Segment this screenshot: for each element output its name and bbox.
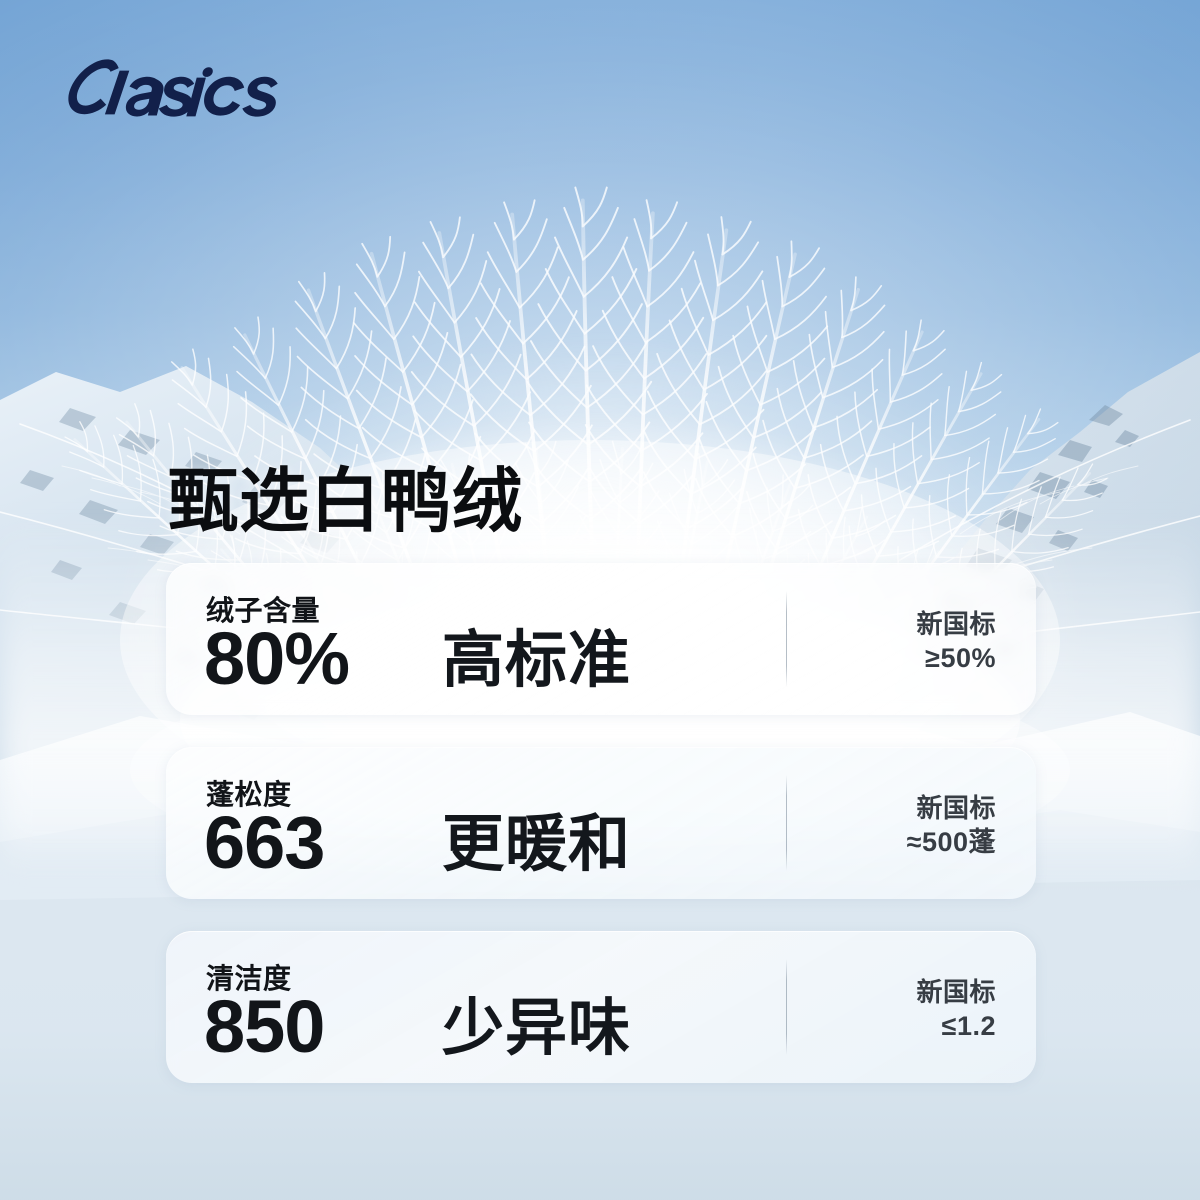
card-divider	[786, 775, 787, 871]
spec-benefit: 少异味	[442, 991, 631, 1067]
national-standard: 新国标 ≈500蓬	[907, 791, 996, 859]
card-divider	[786, 591, 787, 687]
spec-value: 663	[204, 801, 324, 885]
spec-value: 850	[204, 985, 324, 1069]
standard-title: 新国标	[916, 975, 996, 1009]
standard-value: ≤1.2	[916, 1009, 996, 1043]
standard-value: ≥50%	[916, 641, 996, 675]
page-title: 甄选白鸭绒	[168, 466, 523, 536]
spec-benefit: 高标准	[442, 623, 631, 699]
spec-value: 80%	[204, 617, 349, 701]
standard-title: 新国标	[916, 607, 996, 641]
spec-card-fill-power: 蓬松度 663 更暖和 新国标 ≈500蓬	[166, 747, 1036, 899]
spec-benefit: 更暖和	[442, 807, 631, 883]
spec-card-cleanliness: 清洁度 850 少异味 新国标 ≤1.2	[166, 931, 1036, 1083]
standard-title: 新国标	[907, 791, 996, 825]
national-standard: 新国标 ≤1.2	[916, 975, 996, 1043]
asics-logo	[64, 57, 304, 119]
national-standard: 新国标 ≥50%	[916, 607, 996, 675]
card-divider	[786, 959, 787, 1055]
spec-card-list: 绒子含量 80% 高标准 新国标 ≥50% 蓬松度 663 更暖和 新国标 ≈5…	[166, 563, 1036, 1083]
standard-value: ≈500蓬	[907, 825, 996, 859]
promo-poster: 甄选白鸭绒 绒子含量 80% 高标准 新国标 ≥50% 蓬松度 663 更暖和 …	[0, 0, 1200, 1200]
spec-card-down-content: 绒子含量 80% 高标准 新国标 ≥50%	[166, 563, 1036, 715]
